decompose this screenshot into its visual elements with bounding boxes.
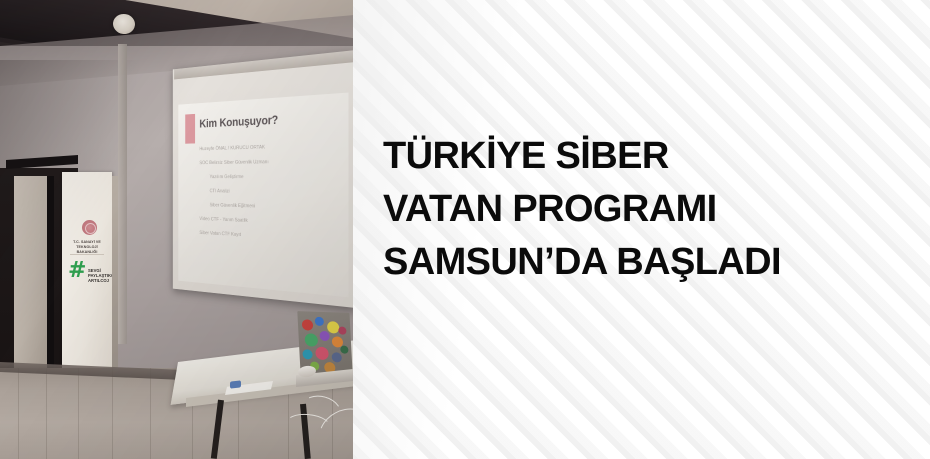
rollup-banner: T.C. SANAYİ VE TEKNOLOJİ BAKANLIĞI # SEV… [62, 172, 112, 370]
headline-line-2: VATAN PROGRAMI [383, 183, 923, 236]
slide-bullet: Siber Güvenlik Eğitmeni [210, 203, 342, 213]
projected-slide: Kim Konuşuyor? Huzeyfe ÖNAL / KURUCU ORT… [178, 93, 348, 298]
banner-divider [70, 254, 104, 255]
headline-panel: TÜRKİYE SİBER VATAN PROGRAMI SAMSUN’DA B… [353, 0, 930, 459]
headline: TÜRKİYE SİBER VATAN PROGRAMI SAMSUN’DA B… [383, 130, 923, 289]
news-photo: T.C. SANAYİ VE TEKNOLOJİ BAKANLIĞI # SEV… [0, 0, 353, 459]
slide-bullet: CTI Analizi [210, 189, 342, 197]
ministry-crest-icon [82, 220, 97, 235]
headline-line-1: TÜRKİYE SİBER [383, 130, 923, 183]
headline-line-3: SAMSUN’DA BAŞLADI [383, 236, 923, 289]
slide-bullet: Huzeyfe ÖNAL / KURUCU ORTAK [199, 142, 342, 152]
projection-screen: Kim Konuşuyor? Huzeyfe ÖNAL / KURUCU ORT… [173, 50, 353, 308]
slide-bullet: Video CTF - Yarım Saatlik [199, 216, 342, 228]
ministry-name-line1: T.C. SANAYİ VE [67, 240, 107, 245]
slide-bullet: SOC Belirsiz Siber Güvenlik Uzmanı [199, 158, 342, 167]
news-card: T.C. SANAYİ VE TEKNOLOJİ BAKANLIĞI # SEV… [0, 0, 930, 459]
door-leaf [14, 176, 47, 368]
campaign-line3: ARTILCOJ [88, 278, 110, 283]
name-badge [230, 380, 241, 388]
slide-bullet: Yazılım Geliştirme [210, 174, 342, 181]
slide-accent-block [185, 114, 195, 144]
screen-support-pole [118, 44, 127, 344]
slide-title: Kim Konuşuyor? [199, 113, 278, 131]
door-gap [47, 176, 54, 368]
slide-bullet-list: Huzeyfe ÖNAL / KURUCU ORTAK SOC Belirsiz… [199, 142, 342, 253]
ministry-name-line2: TEKNOLOJİ BAKANLIĞI [67, 245, 107, 254]
slide-bullet: Siber Vatan CTF Kayıt [199, 230, 342, 244]
